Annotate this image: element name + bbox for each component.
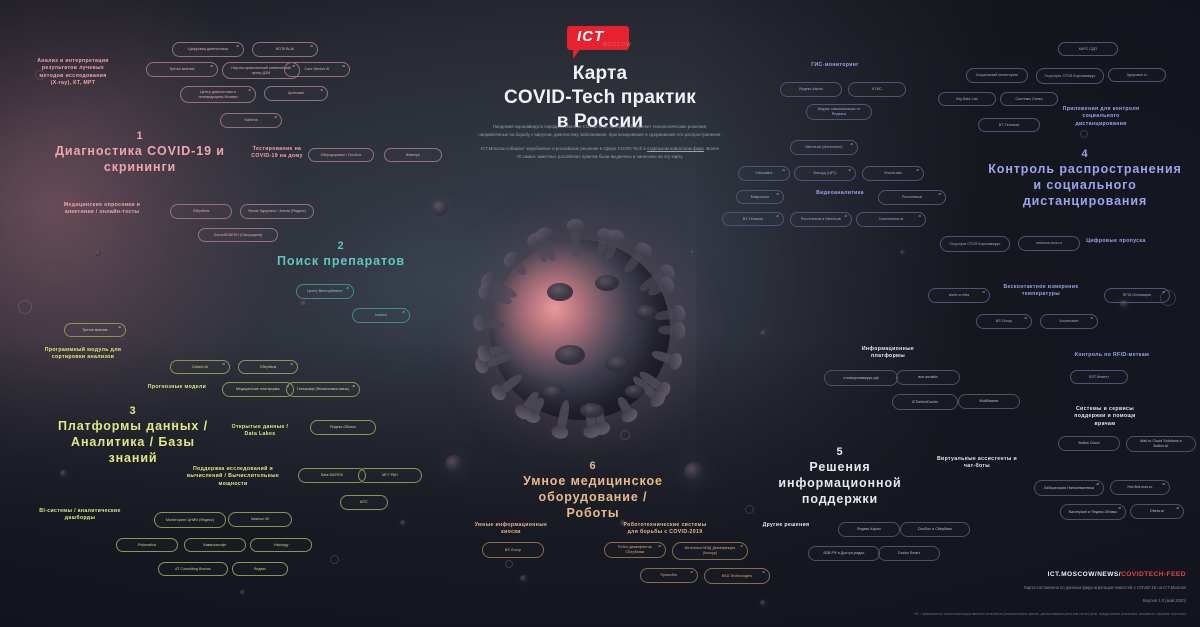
title-line-1: Карта [400,62,800,86]
section-title-line: оборудование / [490,489,696,505]
practice-pill-label: Мониторинг ЦНИИ (Яндекс) [166,518,214,523]
practice-pill[interactable]: BSG.TechnologiesAI [704,568,770,584]
practice-pill[interactable]: Ясное Здоровье / Алгом (Яндекс) [240,204,314,219]
practice-pill[interactable]: Celado AIAI [170,360,230,374]
section-number: 2 [256,240,426,253]
practice-pill[interactable]: RST.Инвент [1070,370,1128,384]
practice-pill[interactable]: Кавычкасофт [184,538,246,552]
practice-pill-label: BS Group [996,319,1012,324]
practice-pill[interactable]: Системы Опека [1000,92,1058,106]
practice-pill[interactable]: Big Data Lab [938,92,996,106]
practice-pill-label: B2B.РФ и Доступ-радио [824,551,865,556]
practice-pill[interactable]: Инвитро [384,148,442,162]
practice-pill[interactable]: BT-Телеком [978,118,1040,132]
group-label: Приложения для контролясоциальногодистан… [1046,106,1156,128]
ai-badge: AI [290,363,293,366]
group-label: Видеоаналитика [800,190,880,197]
practice-pill-label: Робот-дезинфектор СБербанка [611,545,659,554]
practice-pill[interactable]: VisionLabsAI [862,166,924,181]
practice-pill[interactable]: все.онлайн [896,370,960,385]
section-title-line: Контроль распространения [960,161,1200,177]
footer-url[interactable]: ICT.MOSCOW/NEWS/COVIDTECH-FEED [896,571,1186,578]
group-label-line: методов исследования [18,73,128,80]
practice-pill-label: Сбербанк [193,209,210,214]
section-title-line: Роботы [490,505,696,521]
practice-pill-label: BSG.Technologies [722,574,752,579]
group-label-line: киоски [464,529,558,536]
group-label-line: анкетники / онлайн-тесты [42,209,162,216]
group-label: ГИС-мониторинг [790,62,880,69]
practice-pill-label: Яндекс [254,567,266,572]
practice-pill-label: Центр ВекторИнвест [307,289,343,294]
ai-badge: AI [916,169,919,172]
section-title: Диагностика COVID-19 искрининги [10,143,270,175]
practice-pill-label: DonorSEARCH (Смородина) [214,233,262,238]
infographic-canvas: ICT MOSCOW Карта COVID-Tech практик в Ро… [0,0,1200,627]
practice-pill[interactable]: Госуслуги СТОП Коронавирус [1036,68,1104,84]
group-label-line: врачам [1050,421,1160,428]
practice-pill[interactable]: Третье мнениеAI [64,323,126,337]
group-label-line: Программный модуль для [28,347,138,354]
practice-pill-label: Connectome.ai [879,217,904,222]
footer-ai-note: *AI – применяются технологии искусственн… [896,612,1186,617]
practice-pill-label: RST.Инвент [1089,375,1109,380]
practice-pill[interactable]: КАРС.СДП [1058,42,1118,56]
practice-pill[interactable]: Лаборатория НаносемантикаAI [1034,480,1104,496]
practice-pill-label: Инвитро [406,153,420,158]
practice-pill-label: Цифровая диагностика [188,47,228,52]
group-label-line: Цифровые пропуска [1070,238,1162,245]
practice-pill-label: Visiology [274,543,289,548]
practice-pill-label: BT-Телеком [743,217,763,222]
group-label-line: Приложения для контроля [1046,106,1156,113]
practice-pill[interactable]: AT Consulting Восток [158,562,228,576]
practice-pill[interactable]: Медицинские платформыAI [222,382,294,397]
practice-pill-label: Яндекс.Карты [799,87,823,92]
ai-badge: AI [1024,317,1027,320]
section-number: 1 [10,130,270,143]
group-label: Программный модуль длясортировки анализо… [28,347,138,362]
practice-pill-label: Data MATRIX [321,473,343,478]
footer-url-main: ICT.MOSCOW/NEWS/ [1048,571,1122,578]
ai-badge: AI [248,89,251,92]
group-label: Бесконтактное измерениетемпературы [986,284,1096,299]
practice-pill[interactable]: Navimplant и Яндекс.ОблакоAI [1060,504,1126,520]
practice-pill[interactable]: Botkin Cloud [1058,436,1120,451]
practice-pill[interactable]: BOTKIN.AIAI [252,42,318,57]
practice-pill[interactable]: Цифровая диагностикаAI [172,42,244,57]
practice-pill[interactable]: Hot-Bot.mos.ruAI [1110,480,1170,495]
practice-pill-label: Здоровье.ru [1127,73,1148,78]
section-title-line: дистанцирования [960,193,1200,209]
practice-pill-label: Sciberia [244,118,257,123]
section-title: Решенияинформационнойподдержки [730,459,950,507]
group-label-line: Умные информационные [464,522,558,529]
practice-pill-label: Индекс самоизоляции от Яндекса [813,107,865,116]
group-label: Робототехнические системыдля борьбы с CO… [608,522,722,537]
section-title-line: Диагностика COVID-19 и [10,143,270,159]
section-number: 4 [960,148,1200,161]
practice-pill[interactable]: BS GroupAI [976,314,1032,329]
section-title: Поиск препаратов [256,253,426,269]
group-label: Виртуальные ассистенты ичат-боты [922,456,1032,471]
group-label: Открытые данные /Data Lakes [210,424,310,439]
ict-moscow-logo[interactable]: ICT MOSCOW [567,26,635,58]
practice-pill[interactable]: Visiology [250,538,312,552]
section-title-line: поддержки [730,491,950,507]
practice-pill-label: МГУ РАН [382,473,398,478]
group-label: Поддержка исследований ивычислений / Выч… [170,466,296,488]
practice-pill[interactable]: Индекс самоизоляции от Яндекса [806,104,872,120]
group-label-line: Открытые данные / [210,424,310,431]
title-line-2: COVID-Tech практик [400,86,800,110]
ai-badge: AI [1090,317,1093,320]
practice-pill[interactable]: Navicon BI [228,512,292,527]
practice-pill-label: Polymatica [138,543,156,548]
practice-pill[interactable]: Центр ВекторИнвестAI [296,284,354,299]
group-label-line: платформы [840,353,936,360]
section-number: 5 [730,446,950,459]
ai-badge: AI [658,545,661,548]
section-title: Умное медицинскоеоборудование /Роботы [490,473,696,521]
practice-pill-label: Botkin Cloud [1078,441,1099,446]
practice-pill-label: Hot-Bot.mos.ru [1128,485,1153,490]
ai-badge: AI [1162,291,1165,294]
group-label-line: ГИС-мониторинг [790,62,880,69]
practice-pill[interactable]: BS Group [482,542,544,558]
practice-pill[interactable]: DocDoc и Сбербанк [900,522,970,537]
practice-pill[interactable]: Яндекс.Облако [310,420,376,435]
ai-badge: AI [118,326,121,329]
practice-pill[interactable]: B2B.РФ и Доступ-радио [808,546,880,561]
section-heading-1: 1Диагностика COVID-19 искрининги [10,130,270,175]
practice-pill[interactable]: VocsenaderAI [1040,314,1098,329]
ai-badge: AI [776,193,779,196]
practice-pill[interactable]: РостелекомAI [878,190,946,205]
ai-badge: AI [844,215,847,218]
group-label: Системы и сервисыподдержки и помощиврача… [1050,406,1160,428]
practice-pill[interactable]: Care Mentor AIAI [284,62,350,77]
practice-pill[interactable]: МакроскопAI [736,190,784,204]
practice-pill[interactable]: АртезианAI [264,86,328,101]
logo-ict-text: ICT [577,28,604,45]
section-heading-6: 6Умное медицинскоеоборудование /Роботы [490,460,696,521]
ai-badge: AI [762,571,765,574]
practice-pill[interactable]: Тинькофф (Финансовая связь)AI [286,382,360,397]
group-label-line: вычислений / Вычислительные [170,473,296,480]
ai-badge: AI [690,571,693,574]
group-label-line: Контроль по RFID-меткам [1060,352,1164,359]
practice-pill[interactable]: Connectome.aiAI [856,212,926,227]
group-label: Анализ и интерпретациярезультатов лучевы… [18,58,128,88]
practice-pill[interactable]: Mail.ru Cloud Solutions и Botkin.AI [1126,436,1196,452]
practice-pill-label: Яндекс.Карты [857,527,881,532]
group-label-line: мощности [170,481,296,488]
practice-pill-label: Госуслуги СТОП Коронавирус [1045,74,1096,79]
group-label-line: сортировки анализов [28,354,138,361]
practice-pill-label: Ростелеком и NtechLab [801,217,841,222]
practice-pill[interactable]: стопкоронавирус.рф [824,370,898,386]
practice-pill-label: Третье мнение [169,67,194,72]
practice-pill[interactable]: VisionlabsAI [738,166,790,181]
ai-badge: AI [210,65,213,68]
section-heading-4: 4Контроль распространенияи социальногоди… [960,148,1200,209]
practice-pill-label: Insilico [375,313,387,318]
group-label: Другие решения [752,522,820,529]
practice-pill[interactable]: Сбербанк [170,204,232,219]
ai-badge: AI [776,215,779,218]
ai-badge: AI [938,193,941,196]
practice-pill[interactable]: SciberiaAI [220,113,282,128]
ai-badge: AI [918,215,921,218]
group-label: Прогнозные модели [128,384,226,391]
practice-pill-label: Кавычкасофт [204,543,227,548]
practice-pill[interactable]: МГУ РАН [358,468,422,483]
practice-pill-label: Visionlabs [756,171,773,176]
practice-pill[interactable]: Вокорд (ЦРТ)AI [794,166,856,181]
practice-pill[interactable]: ICTonlineDoctor [892,394,958,410]
practice-pill-label: Системы Опека [1015,97,1042,102]
group-label: Цифровые пропуска [1070,238,1162,245]
practice-pill-label: Navicon BI [251,517,269,522]
group-label-line: Прогнозные модели [128,384,226,391]
ai-badge: AI [352,385,355,388]
ai-badge: AI [320,89,323,92]
intro-p2-link[interactable]: отдельном новостном фиде [647,146,704,151]
practice-pill-label: Dbeta.ai [1150,509,1164,514]
ai-badge: AI [1118,507,1121,510]
practice-pill[interactable]: Интеллект.МЭД Дезинфекция (Конкур)AI [672,542,748,560]
practice-pill-label: МТС [360,500,368,505]
intro-p2-a: ICT.Moscow собирает зарубежные и российс… [481,146,647,151]
practice-pill-label: Центр диагностики и телемедицины Москвы [187,90,249,99]
ai-badge: AI [982,291,985,294]
practice-pill-label: VisionLabs [884,171,902,176]
intro-paragraph-1: Пандемия коронавируса породила понятие C… [478,123,722,138]
logo-moscow-text: MOSCOW [603,42,631,48]
practice-pill[interactable]: NtechLab (Интеллект)AI [790,140,858,155]
practice-pill-label: все.онлайн [918,375,937,380]
section-title-line: знаний [8,450,258,466]
section-title-line: информационной [730,475,950,491]
section-title-line: скрининги [10,159,270,175]
practice-pill[interactable]: Мойбизнес [958,394,1020,409]
practice-pill-label: Макроскоп [751,195,769,200]
group-label-line: (X-ray), КТ, МРТ [18,80,128,87]
practice-pill-label: nedoma.mos.ru [1036,241,1062,246]
group-label-line: Видеоаналитика [800,190,880,197]
practice-pill-label: Госуслуги СТОП Коронавирус [950,242,1001,247]
practice-pill-label: alarix.a.infra [949,293,969,298]
practice-pill[interactable]: InsilicoAI [352,308,410,323]
practice-pill[interactable]: СбербанкAI [238,360,298,374]
practice-pill[interactable]: Яндекс.Карты [780,82,842,97]
practice-pill-label: стопкоронавирус.рф [843,376,878,381]
practice-pill-label: Mail.ru Cloud Solutions и Botkin.AI [1133,439,1189,448]
group-label-line: результатов лучевых [18,65,128,72]
practice-pill-label: Медицинские платформы [236,387,280,392]
practice-pill-label: Третье мнение [82,328,107,333]
section-number: 3 [8,405,258,418]
practice-pill[interactable]: МТС [340,495,388,510]
group-label: Контроль по RFID-меткам [1060,352,1164,359]
practice-pill[interactable]: BT-ТелекомAI [722,212,784,226]
practice-pill-label: NtechLab (Интеллект) [805,145,842,150]
practice-pill-label: Care Mentor AI [305,67,330,72]
ai-badge: AI [1096,483,1099,486]
intro-paragraph-2: ICT.Moscow собирает зарубежные и российс… [478,145,722,160]
practice-pill-label: КАРС.СДП [1079,47,1097,52]
section-title-line: Умное медицинское [490,473,696,489]
ai-badge: AI [236,45,239,48]
section-heading-5: 5Решенияинформационнойподдержки [730,446,950,507]
ai-badge: AI [1176,507,1179,510]
group-label: Умные информационныекиоски [464,522,558,537]
practice-pill-label: Яндекс.Облако [330,425,356,430]
practice-pill[interactable]: Робот-дезинфектор СБербанкаAI [604,542,666,558]
ai-badge: AI [740,545,743,548]
practice-pill[interactable]: Социальный мониторинг [966,68,1028,83]
practice-pill-label: КТИС [872,87,882,92]
section-title-line: и социального [960,177,1200,193]
practice-pill[interactable]: RFID.ИнновацииAI [1104,288,1170,303]
practice-pill-label: BT-Телеком [999,123,1019,128]
section-title-line: Поиск препаратов [256,253,426,269]
practice-pill[interactable]: Dbeta.aiAI [1130,504,1184,519]
group-label-line: Анализ и интерпретация [18,58,128,65]
practice-pill[interactable]: Госуслуги СТОП Коронавирус [940,236,1010,252]
group-label-line: социального [1046,113,1156,120]
practice-pill-label: Doctor Smart [898,551,920,556]
practice-pill-label: Vocsenader [1059,319,1079,324]
group-label-line: поддержки и помощи [1050,413,1160,420]
group-label-line: Другие решения [752,522,820,529]
practice-pill[interactable]: nedoma.mos.ru [1018,236,1080,251]
group-label-line: Бесконтактное измерение [986,284,1096,291]
ai-badge: AI [346,287,349,290]
practice-pill-label: AT Consulting Восток [175,567,211,572]
group-label-line: чат-боты [922,463,1032,470]
logo-tail [573,48,581,59]
practice-pill[interactable]: Data MATRIX [298,468,366,483]
ai-badge: AI [310,45,313,48]
group-label: Медицинские опросники ианкетники / онлай… [42,202,162,217]
ai-badge: AI [342,65,345,68]
practice-pill-label: DocDoc и Сбербанк [918,527,952,532]
practice-pill[interactable]: alarix.a.infraAI [928,288,990,303]
practice-pill[interactable]: Здоровье.ru [1108,68,1166,82]
practice-pill-label: Тинькофф (Финансовая связь) [297,387,350,392]
practice-pill[interactable]: КТИС [848,82,906,97]
ai-badge: AI [782,169,785,172]
practice-pill-label: Лаборатория Наносемантика [1044,486,1094,491]
footer-line-1: Карта составлена по данным фида агрегаци… [896,584,1186,592]
practice-pill-label: Ясное Здоровье / Алгом (Яндекс) [248,209,306,214]
practice-pill[interactable]: Ростелеком и NtechLabAI [790,212,852,227]
practice-pill-label: Мойбизнес [980,399,999,404]
practice-pill[interactable]: Яндекс.Карты [838,522,900,537]
footer-line-2: Версия 1.0 (май 2020) [896,597,1186,605]
practice-pill-label: Big Data Lab [956,97,977,102]
practice-pill-label: BOTKIN.AI [276,47,294,52]
group-label-line: Data Lakes [210,431,310,438]
practice-pill-label: BS Group [505,548,521,553]
practice-pill-label: Сберздоровье / DocDoc [321,153,362,158]
practice-pill[interactable]: Doctor Smart [878,546,940,561]
group-label: Информационныеплатформы [840,346,936,361]
ai-badge: AI [1162,483,1165,486]
section-title-line: Решения [730,459,950,475]
section-heading-2: 2Поиск препаратов [256,240,426,269]
group-label: BI-системы / аналитическиедашборды [22,508,138,523]
practice-pill-label: Ростелеком [902,195,922,200]
practice-pill-label: Сбербанк [260,365,277,370]
ai-badge: AI [848,169,851,172]
intro-paragraphs: Пандемия коронавируса породила понятие C… [478,123,722,167]
practice-pill[interactable]: Сберздоровье / DocDoc [308,148,374,162]
group-label-line: для борьбы с COVID-2019 [608,529,722,536]
practice-pill-label: Артезиан [288,91,304,96]
practice-pill[interactable]: Третье мнениеAI [146,62,218,77]
practice-pill[interactable]: ПромоботAI [640,568,698,583]
practice-pill-label: Celado AI [192,365,208,370]
practice-pill[interactable]: Polymatica [116,538,178,552]
practice-pill-label: Интеллект.МЭД Дезинфекция (Конкур) [679,546,741,555]
practice-pill-label: Вокорд (ЦРТ) [813,171,836,176]
practice-pill-label: Navimplant и Яндекс.Облако [1069,510,1118,515]
practice-pill-label: Промобот [660,573,677,578]
practice-pill[interactable]: Яндекс [232,562,288,576]
practice-pill-label: RFID.Инновации [1123,293,1152,298]
group-label-line: дистанцирования [1046,121,1156,128]
ai-badge: AI [222,363,225,366]
group-label-line: дашборды [22,515,138,522]
group-label-line: Системы и сервисы [1050,406,1160,413]
section-title: Контроль распространенияи социальногодис… [960,161,1200,209]
footer-url-accent: COVIDTECH-FEED [1121,571,1186,578]
section-number: 6 [490,460,696,473]
practice-pill[interactable]: Мониторинг ЦНИИ (Яндекс) [154,512,226,528]
footer: ICT.MOSCOW/NEWS/COVIDTECH-FEED Карта сос… [896,571,1186,617]
practice-pill[interactable]: Центр диагностики и телемедицины МосквыA… [180,86,256,103]
group-label-line: температуры [986,291,1096,298]
ai-badge: AI [274,116,277,119]
ai-badge: AI [402,311,405,314]
ai-badge: AI [850,143,853,146]
practice-pill-label: Социальный мониторинг [976,73,1019,78]
practice-pill-label: ICTonlineDoctor [912,400,938,405]
